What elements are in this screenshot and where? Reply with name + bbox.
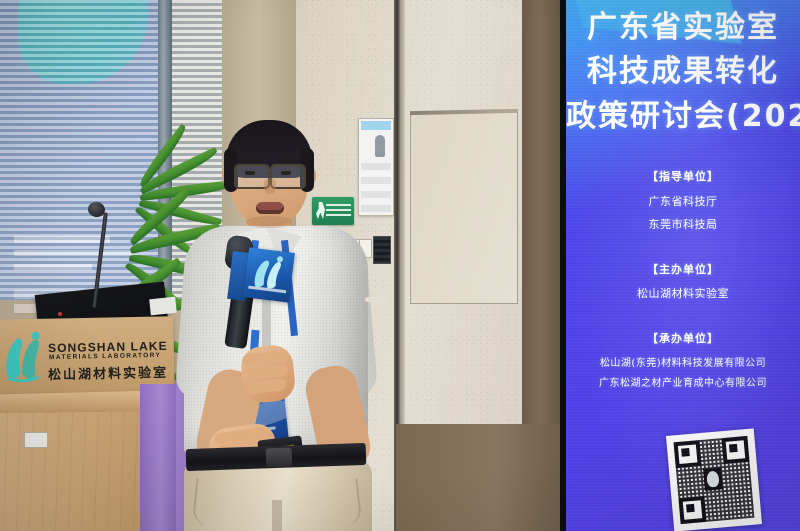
guidance-heading: 【指导单位】: [566, 168, 800, 184]
eye-right: [281, 171, 291, 175]
trouser-seam: [272, 500, 282, 531]
teeth: [365, 297, 387, 302]
pocket-left: [192, 478, 233, 528]
qr-code: [666, 428, 762, 531]
qr-eye-bottom-left: [678, 496, 706, 524]
host-org-1: 松山湖材料实验室: [566, 285, 800, 301]
eye-left: [245, 171, 255, 175]
wood-wall-foreground: [396, 424, 576, 531]
screen-title-line-2: 科技成果转化: [566, 46, 800, 90]
eyebrow-left: [242, 159, 260, 163]
organizer-heading: 【承办单位】: [566, 330, 800, 346]
screenshot-root: 广东省实验室 科技成果转化 政策研讨会(2023 【指导单位】 广东省科技厅 东…: [0, 0, 800, 531]
microphone-flag-logo-icon: [243, 247, 295, 302]
podium-asset-label: [24, 432, 48, 448]
laptop-logo-dot: [58, 312, 62, 316]
eyebrow-right: [278, 159, 296, 163]
organizer-org-2: 广东松湖之材产业育成中心有限公司: [566, 374, 800, 389]
qr-eye-top-right: [721, 436, 749, 464]
nose: [264, 178, 276, 194]
led-screen: 广东省实验室 科技成果转化 政策研讨会(2023 【指导单位】 广东省科技厅 东…: [566, 0, 800, 531]
hand-on-microphone: [239, 343, 297, 404]
qr-eye-top-left: [674, 440, 702, 468]
microphone-flag: [243, 247, 295, 302]
qr-center-logo: [703, 467, 723, 490]
guidance-org-1: 广东省科技厅: [566, 193, 800, 209]
host-heading: 【主办单位】: [566, 261, 800, 277]
glasses-bridge: [266, 172, 272, 174]
belt-buckle: [266, 448, 293, 468]
chin-shadow: [246, 216, 292, 228]
screen-title-line-1: 广东省实验室: [566, 2, 800, 46]
speaker: [150, 108, 410, 531]
pocket-right: [322, 478, 363, 528]
screen-title-line-3: 政策研讨会(2023: [566, 91, 800, 135]
guidance-org-2: 东莞市科技局: [566, 216, 800, 232]
logo-svg: [2, 330, 47, 383]
organizer-org-1: 松山湖(东莞)材料科技发展有限公司: [566, 354, 800, 369]
songshan-lake-logo: [2, 330, 47, 383]
wall-access-panel: [410, 112, 518, 304]
mouth: [256, 202, 284, 214]
